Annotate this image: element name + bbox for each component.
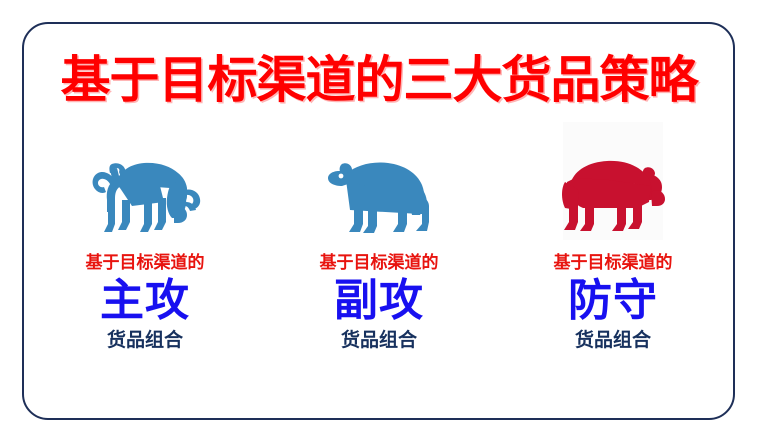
bull-icon — [86, 132, 204, 240]
column-keyword: 主攻 — [100, 276, 190, 326]
column-footer: 货品组合 — [107, 328, 183, 352]
strategy-column-defensive[interactable]: 基于目标渠道的 防守 货品组合 — [496, 132, 730, 352]
column-footer: 货品组合 — [341, 328, 417, 352]
column-keyword: 防守 — [568, 276, 658, 326]
bear-icon — [557, 132, 669, 240]
strategy-column-secondary[interactable]: 基于目标渠道的 副攻 货品组合 — [262, 132, 496, 352]
column-subtitle: 基于目标渠道的 — [554, 252, 673, 274]
bear-icon — [324, 132, 434, 240]
column-keyword: 副攻 — [334, 276, 424, 326]
page-title: 基于目标渠道的三大货品策略 — [0, 52, 758, 108]
strategy-columns: 基于目标渠道的 主攻 货品组合 — [28, 132, 730, 382]
column-subtitle: 基于目标渠道的 — [320, 252, 439, 274]
column-footer: 货品组合 — [575, 328, 651, 352]
slide-canvas: 基于目标渠道的三大货品策略 — [0, 0, 758, 438]
strategy-column-primary[interactable]: 基于目标渠道的 主攻 货品组合 — [28, 132, 262, 352]
column-subtitle: 基于目标渠道的 — [86, 252, 205, 274]
